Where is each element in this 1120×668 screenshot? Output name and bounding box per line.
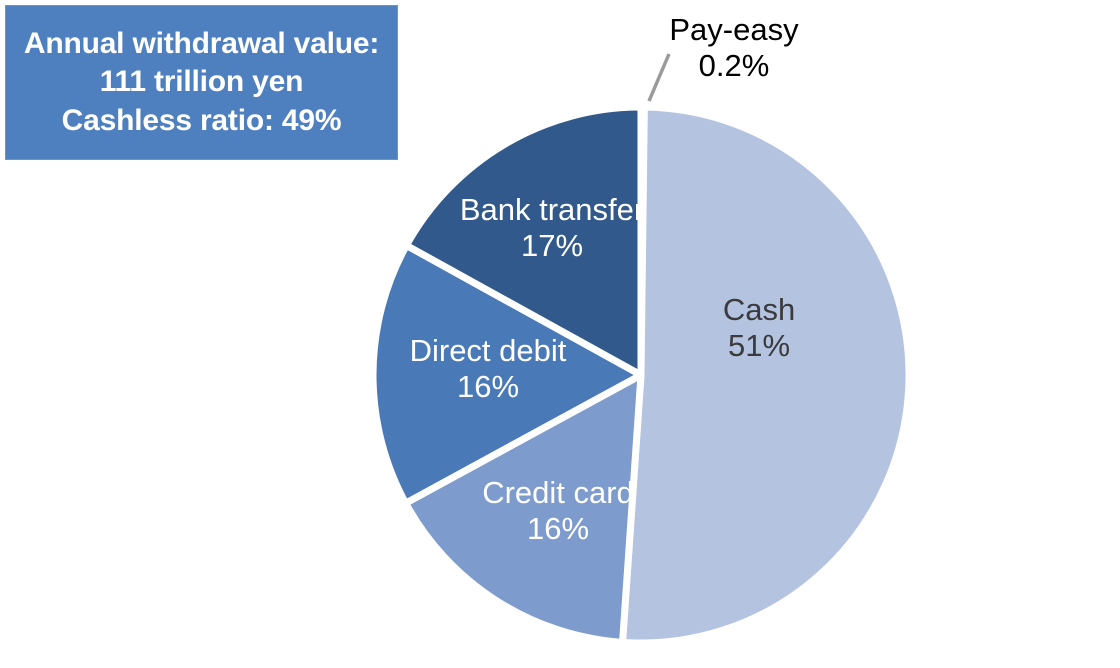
pie-slices-group — [373, 107, 909, 643]
annotation-line-3: Cashless ratio: 49% — [62, 103, 342, 140]
annotation-line-1: Annual withdrawal value: — [24, 26, 379, 63]
annotation-callout-box: Annual withdrawal value: 111 trillion ye… — [5, 5, 398, 160]
pay-easy-leader-line — [649, 54, 669, 101]
pie-slice-cash — [623, 107, 910, 643]
annotation-line-2: 111 trillion yen — [100, 64, 304, 101]
